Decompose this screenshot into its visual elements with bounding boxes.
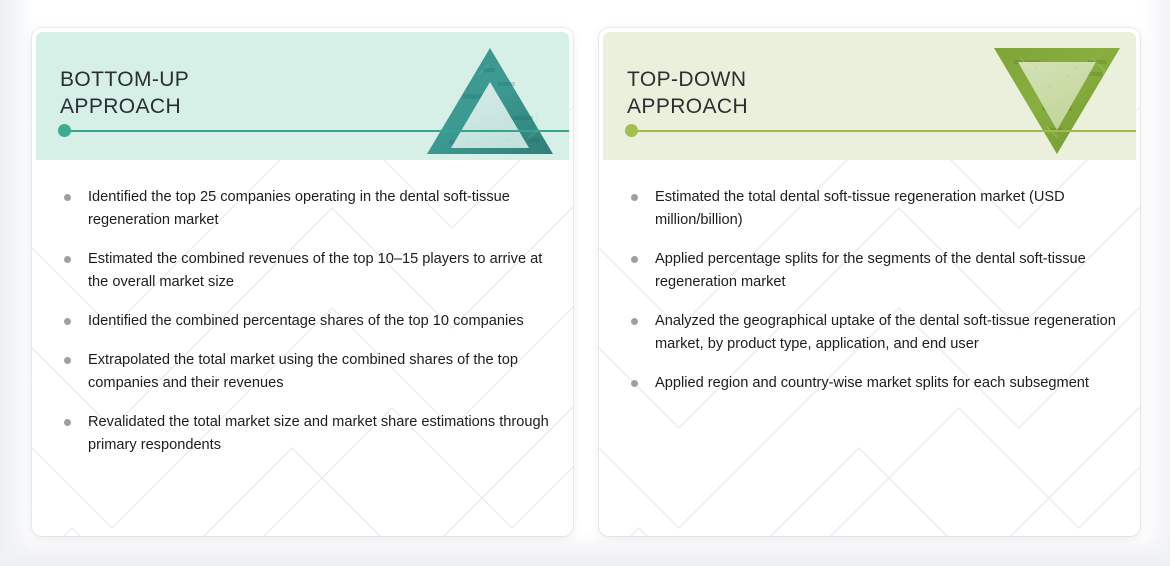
triangle-up-icon <box>425 42 555 160</box>
bullet-list-bottom-up: Identified the top 25 companies operatin… <box>58 186 549 457</box>
list-item: Analyzed the geographical uptake of the … <box>625 310 1116 356</box>
list-item: Identified the top 25 companies operatin… <box>58 186 549 232</box>
list-item: Revalidated the total market size and ma… <box>58 411 549 457</box>
bullet-dot-icon <box>631 256 638 263</box>
list-item-label: Extrapolated the total market using the … <box>88 349 549 395</box>
bullet-dot-icon <box>631 318 638 325</box>
divider-dot <box>58 124 71 137</box>
bullet-dot-icon <box>631 194 638 201</box>
list-item-label: Identified the top 25 companies operatin… <box>88 186 549 232</box>
card-bottom-up-approach: BOTTOM-UP APPROACH Identified the top 25… <box>32 28 573 536</box>
card-title-bottom-up: BOTTOM-UP APPROACH <box>60 66 189 120</box>
list-item: Estimated the total dental soft-tissue r… <box>625 186 1116 232</box>
list-item-label: Applied percentage splits for the segmen… <box>655 248 1116 294</box>
card-body-top-down: Estimated the total dental soft-tissue r… <box>599 160 1140 536</box>
list-item: Identified the combined percentage share… <box>58 310 549 333</box>
list-item-label: Revalidated the total market size and ma… <box>88 411 549 457</box>
list-item-label: Estimated the total dental soft-tissue r… <box>655 186 1116 232</box>
divider-line <box>633 130 1136 132</box>
card-body-bottom-up: Identified the top 25 companies operatin… <box>32 160 573 536</box>
list-item-label: Identified the combined percentage share… <box>88 310 549 333</box>
list-item: Applied region and country-wise market s… <box>625 372 1116 395</box>
triangle-down-icon <box>992 42 1122 160</box>
header-divider-top-down <box>625 124 1136 138</box>
bullet-dot-icon <box>64 318 71 325</box>
card-top-down-approach: TOP-DOWN APPROACH Estimated the total de… <box>599 28 1140 536</box>
header-divider-bottom-up <box>58 124 569 138</box>
divider-line <box>66 130 569 132</box>
bullet-dot-icon <box>631 380 638 387</box>
card-header-bottom-up: BOTTOM-UP APPROACH <box>36 32 569 160</box>
approach-cards-board: BOTTOM-UP APPROACH Identified the top 25… <box>0 0 1170 566</box>
card-title-top-down: TOP-DOWN APPROACH <box>627 66 748 120</box>
bullet-dot-icon <box>64 357 71 364</box>
bullet-dot-icon <box>64 194 71 201</box>
list-item: Extrapolated the total market using the … <box>58 349 549 395</box>
list-item-label: Applied region and country-wise market s… <box>655 372 1116 395</box>
list-item-label: Analyzed the geographical uptake of the … <box>655 310 1116 356</box>
divider-dot <box>625 124 638 137</box>
list-item-label: Estimated the combined revenues of the t… <box>88 248 549 294</box>
bullet-dot-icon <box>64 256 71 263</box>
bullet-dot-icon <box>64 419 71 426</box>
list-item: Applied percentage splits for the segmen… <box>625 248 1116 294</box>
card-header-top-down: TOP-DOWN APPROACH <box>603 32 1136 160</box>
bullet-list-top-down: Estimated the total dental soft-tissue r… <box>625 186 1116 395</box>
list-item: Estimated the combined revenues of the t… <box>58 248 549 294</box>
